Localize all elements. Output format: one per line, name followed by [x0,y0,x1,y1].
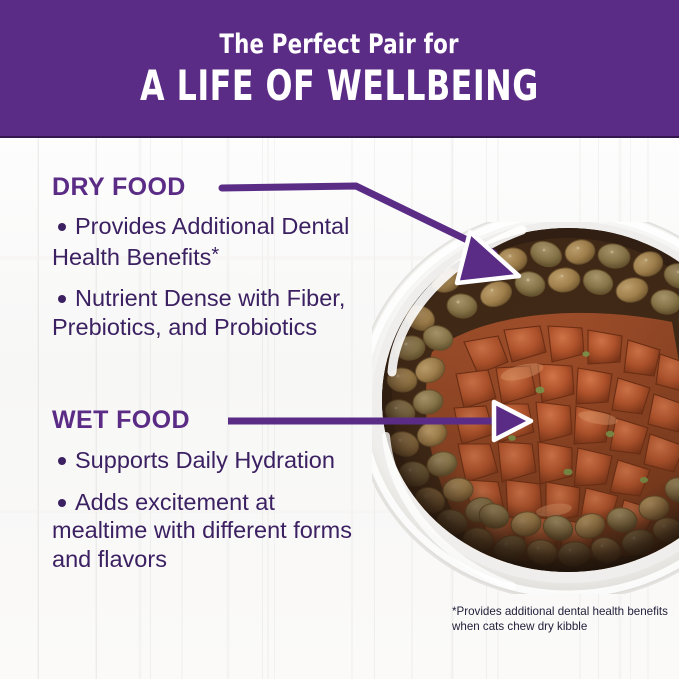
header-subtitle: The Perfect Pair for [220,31,459,58]
bullet-list-dry-food: Provides Additional Dental Health Benefi… [52,212,357,341]
bullet-dot-icon [58,499,66,507]
section-heading-wet-food: WET FOOD [52,408,190,433]
bowl-illustration [372,222,679,594]
header-band: The Perfect Pair for A LIFE OF WELLBEING [0,0,679,138]
list-item: Provides Additional Dental Health Benefi… [52,212,357,271]
list-item: Nutrient Dense with Fiber, Prebiotics, a… [52,284,357,341]
list-item-label: Adds excitement at mealtime with differe… [52,489,352,572]
list-item: Supports Daily Hydration [52,446,357,475]
list-item: Adds excitement at mealtime with differe… [52,488,357,574]
bullet-list-wet-food: Supports Daily Hydration Adds excitement… [52,446,357,573]
bullet-dot-icon [58,223,66,231]
list-item-label: Provides Additional Dental Health Benefi… [52,213,349,270]
list-item-label: Supports Daily Hydration [75,447,335,473]
footnote-text: *Provides additional dental health benef… [452,605,670,634]
section-heading-dry-food: DRY FOOD [52,175,186,200]
bullet-dot-icon [58,295,66,303]
footnote-marker: * [211,244,219,266]
pet-food-bowl-photo [372,222,679,594]
list-item-label: Nutrient Dense with Fiber, Prebiotics, a… [52,285,345,340]
bullet-dot-icon [58,457,66,465]
benefits-column: DRY FOOD Provides Additional Dental Heal… [0,138,372,679]
header-title: A LIFE OF WELLBEING [140,65,539,107]
infographic-page: The Perfect Pair for A LIFE OF WELLBEING… [0,0,679,679]
